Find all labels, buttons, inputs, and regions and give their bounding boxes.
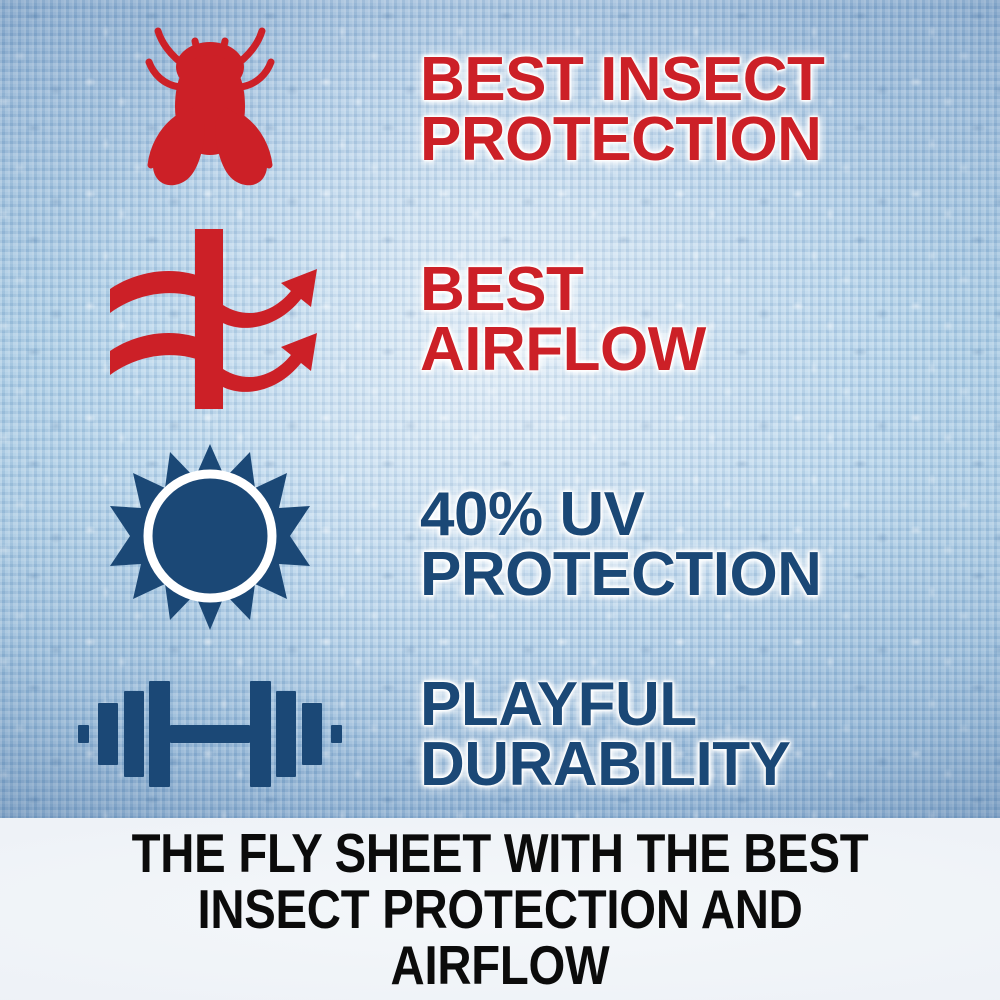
feature-row-durability: PLAYFUL DURABILITY xyxy=(0,655,1000,815)
feature-text-cell: 40% UV PROTECTION xyxy=(420,485,1000,604)
feature-text-cell: PLAYFUL DURABILITY xyxy=(420,675,1000,794)
feature-text-cell: BEST INSECT PROTECTION xyxy=(420,50,1000,169)
caption-bar: THE FLY SHEET WITH THE BEST INSECT PROTE… xyxy=(0,818,1000,1000)
feature-icon-cell xyxy=(0,442,420,647)
fabric-photo-background: BEST INSECT PROTECTION xyxy=(0,0,1000,818)
airflow-through-barrier-icon xyxy=(95,223,325,418)
feature-icon-cell xyxy=(0,15,420,205)
sun-uv-icon xyxy=(110,442,310,647)
feature-row-uv-protection: 40% UV PROTECTION xyxy=(0,442,1000,647)
feature-row-airflow: BEST AIRFLOW xyxy=(0,225,1000,415)
fly-icon xyxy=(125,15,295,205)
feature-icon-cell xyxy=(0,663,420,808)
infographic-poster: BEST INSECT PROTECTION xyxy=(0,0,1000,1000)
dumbbell-icon xyxy=(70,663,350,808)
feature-label-uv-protection: 40% UV PROTECTION xyxy=(420,485,1000,604)
feature-text-cell: BEST AIRFLOW xyxy=(420,260,1000,379)
feature-row-insect-protection: BEST INSECT PROTECTION xyxy=(0,10,1000,210)
feature-label-durability: PLAYFUL DURABILITY xyxy=(420,675,1000,794)
feature-label-insect-protection: BEST INSECT PROTECTION xyxy=(420,50,1000,169)
feature-icon-cell xyxy=(0,223,420,418)
caption-headline: THE FLY SHEET WITH THE BEST INSECT PROTE… xyxy=(70,825,930,993)
feature-label-airflow: BEST AIRFLOW xyxy=(420,260,1000,379)
